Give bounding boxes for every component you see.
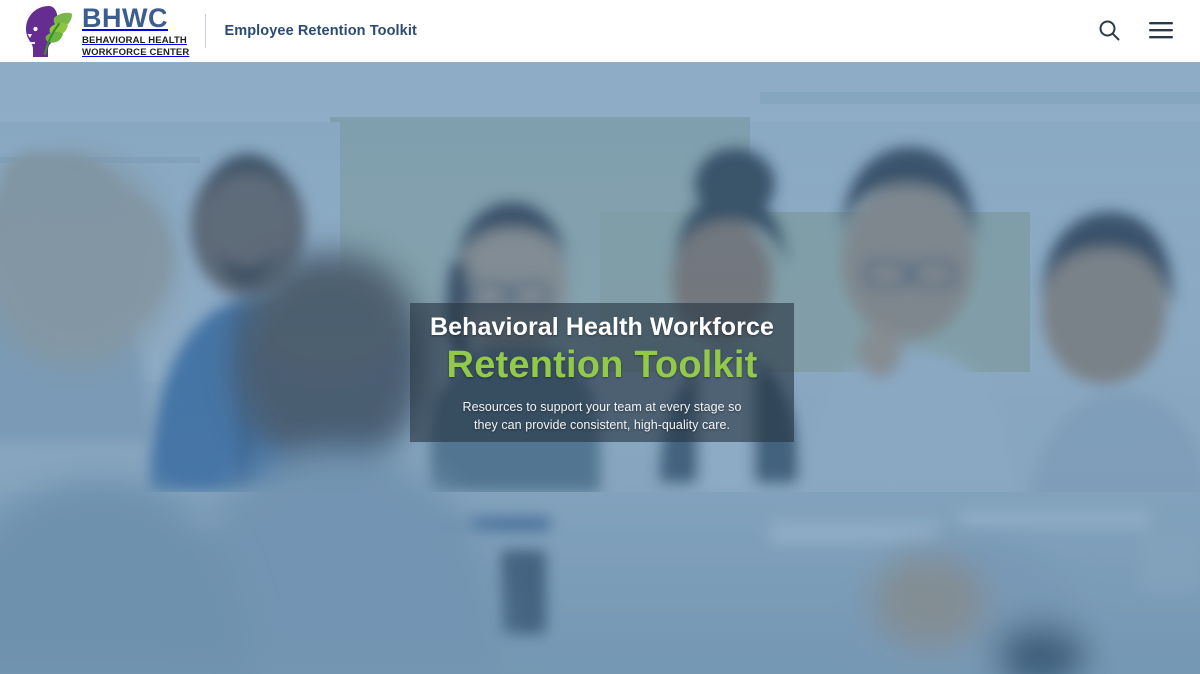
hamburger-menu-icon [1148, 20, 1174, 43]
hero-subtitle: Resources to support your team at every … [428, 398, 776, 434]
site-header: BHWC BEHAVIORAL HEALTH WORKFORCE CENTER … [0, 0, 1200, 62]
hamburger-menu-button[interactable] [1146, 16, 1176, 46]
hero-title-line-2: Retention Toolkit [428, 343, 776, 388]
brand-name: BHWC [82, 5, 189, 32]
brand-tagline: BEHAVIORAL HEALTH WORKFORCE CENTER [82, 35, 189, 58]
brand-wordmark: BHWC BEHAVIORAL HEALTH WORKFORCE CENTER [82, 3, 189, 58]
header-divider [205, 14, 206, 48]
search-button[interactable] [1094, 16, 1124, 46]
hero-title-line-1: Behavioral Health Workforce [428, 313, 776, 342]
hero-banner: Behavioral Health Workforce Retention To… [0, 62, 1200, 674]
brand-logo-link[interactable]: BHWC BEHAVIORAL HEALTH WORKFORCE CENTER [24, 0, 189, 62]
search-icon [1097, 18, 1121, 45]
header-actions [1094, 16, 1176, 46]
page-title: Employee Retention Toolkit [224, 23, 416, 39]
hero-caption-box: Behavioral Health Workforce Retention To… [410, 303, 794, 442]
head-with-leaves-logo-icon [24, 4, 76, 58]
